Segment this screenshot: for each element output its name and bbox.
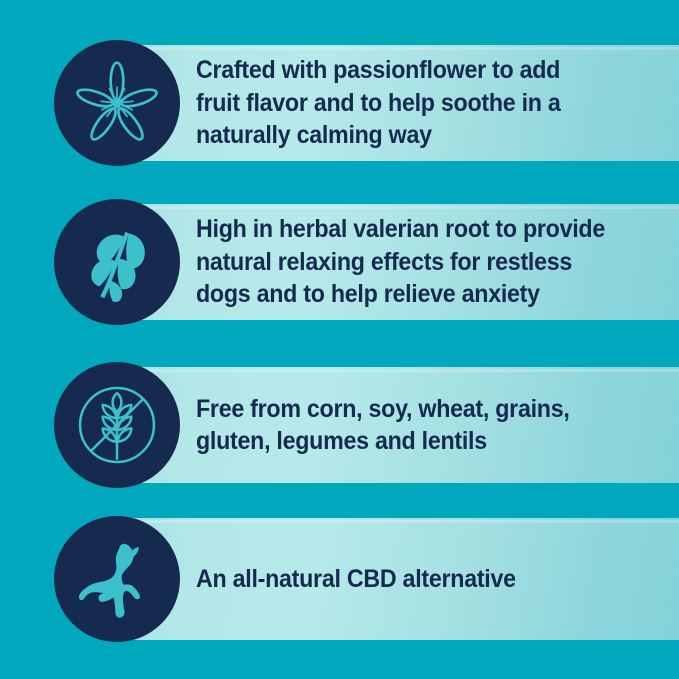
benefit-label: Free from corn, soy, wheat, grains, glut…: [196, 393, 608, 458]
benefit-label: An all-natural CBD alternative: [196, 563, 608, 596]
herb-leaf-sprig-icon: [75, 220, 159, 304]
benefit-label: High in herbal valerian root to provide …: [196, 213, 608, 311]
benefit-row: Crafted with passionflower to add fruit …: [0, 40, 679, 166]
benefit-text: High in herbal valerian root to provide …: [196, 199, 639, 325]
benefit-row: An all-natural CBD alternative: [0, 513, 679, 645]
benefit-label: Crafted with passionflower to add fruit …: [196, 54, 608, 152]
dog-silhouette-icon: [75, 537, 159, 621]
benefit-icon-badge: [54, 362, 180, 488]
benefit-icon-badge: [54, 199, 180, 325]
benefit-text: Crafted with passionflower to add fruit …: [196, 40, 639, 166]
benefits-infographic: Crafted with passionflower to add fruit …: [0, 0, 679, 679]
benefit-icon-badge: [54, 40, 180, 166]
passionflower-icon: [75, 61, 159, 145]
benefit-text: An all-natural CBD alternative: [196, 513, 639, 645]
no-grain-wheat-icon: [75, 383, 159, 467]
benefit-row: High in herbal valerian root to provide …: [0, 199, 679, 325]
benefit-text: Free from corn, soy, wheat, grains, glut…: [196, 362, 639, 488]
benefit-row: Free from corn, soy, wheat, grains, glut…: [0, 362, 679, 488]
benefit-icon-badge: [54, 516, 180, 642]
